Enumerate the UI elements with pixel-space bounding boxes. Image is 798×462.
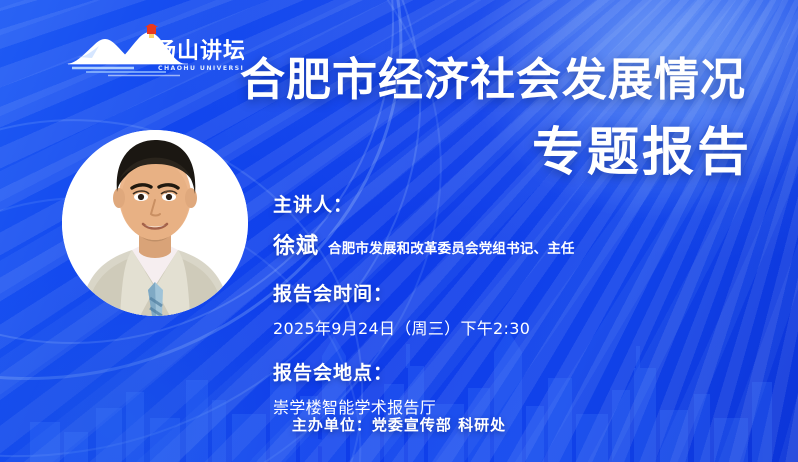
- title-line-1: 合肥市经济社会发展情况: [240, 57, 752, 102]
- speaker-label: 主讲人：: [273, 190, 693, 217]
- speaker-portrait-circle: [62, 130, 248, 316]
- poster-canvas: 汤山讲坛 CHAOHU UNIVERSITY: [0, 0, 798, 462]
- venue-label: 报告会地点：: [273, 358, 693, 385]
- logo-wordmark-en: CHAOHU UNIVERSITY: [158, 65, 244, 72]
- spacer-1: [273, 260, 693, 279]
- title-line-2: 专题报告: [240, 127, 752, 179]
- event-info: 主讲人： 徐斌 合肥市发展和改革委员会党组书记、主任 报告会时间： 2025年9…: [273, 190, 693, 418]
- spacer-2: [273, 339, 693, 358]
- speaker-row: 徐斌 合肥市发展和改革委员会党组书记、主任: [273, 228, 693, 260]
- brand-logo[interactable]: 汤山讲坛 CHAOHU UNIVERSITY: [62, 24, 244, 78]
- speaker-name: 徐斌: [273, 228, 319, 260]
- organizers-line: 主办单位：党委宣传部 科研处: [0, 414, 798, 435]
- speaker-position: 合肥市发展和改革委员会党组书记、主任: [328, 237, 575, 257]
- page-title: 合肥市经济社会发展情况 专题报告: [240, 57, 752, 179]
- logo-wordmark-cn: 汤山讲坛: [154, 39, 244, 64]
- speaker-portrait: [62, 130, 248, 316]
- time-label: 报告会时间：: [273, 279, 693, 306]
- time-value: 2025年9月24日（周三）下午2:30: [273, 315, 693, 339]
